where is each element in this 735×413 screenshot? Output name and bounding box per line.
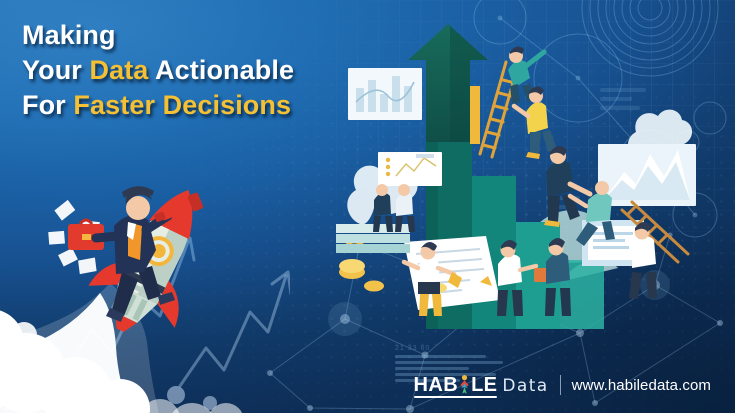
- headline-line-1: Making: [22, 18, 372, 53]
- logo-underline: [414, 396, 498, 398]
- human-figure-icon: [459, 374, 470, 396]
- marketing-banner: 21 33 60: [0, 0, 735, 413]
- headline-line-2-part1: Your: [22, 55, 90, 85]
- logo-habile-wordmark: HAB LE: [414, 374, 498, 396]
- businessman-on-rocket: [48, 150, 263, 365]
- headline-line-3-part1: For: [22, 90, 73, 120]
- data-growth-illustration: [330, 24, 702, 329]
- rocket-exhaust-clouds: [0, 277, 255, 413]
- concentric-circles-decoration: [350, 0, 735, 300]
- growth-arrow-decoration: [60, 180, 290, 395]
- headline-line-3: For Faster Decisions: [22, 88, 372, 123]
- footer-website-url[interactable]: www.habiledata.com: [572, 377, 711, 394]
- footer-branding: HAB LE Data www.habiledata.com: [414, 374, 711, 396]
- headline-emphasis-data: Data: [90, 55, 149, 85]
- background-number-label: 21 33 60: [395, 345, 515, 352]
- headline-emphasis-faster-decisions: Faster Decisions: [73, 90, 291, 120]
- headline-block: Making Your Data Actionable For Faster D…: [22, 18, 372, 123]
- footer-divider: [560, 375, 561, 395]
- logo-text-hab: HAB: [414, 375, 459, 395]
- headline-line-2-part2: Actionable: [148, 55, 294, 85]
- logo-text-data: Data: [502, 376, 548, 396]
- logo-text-le: LE: [471, 375, 497, 395]
- headline-line-2: Your Data Actionable: [22, 53, 372, 88]
- habiledata-logo[interactable]: HAB LE Data: [414, 374, 549, 396]
